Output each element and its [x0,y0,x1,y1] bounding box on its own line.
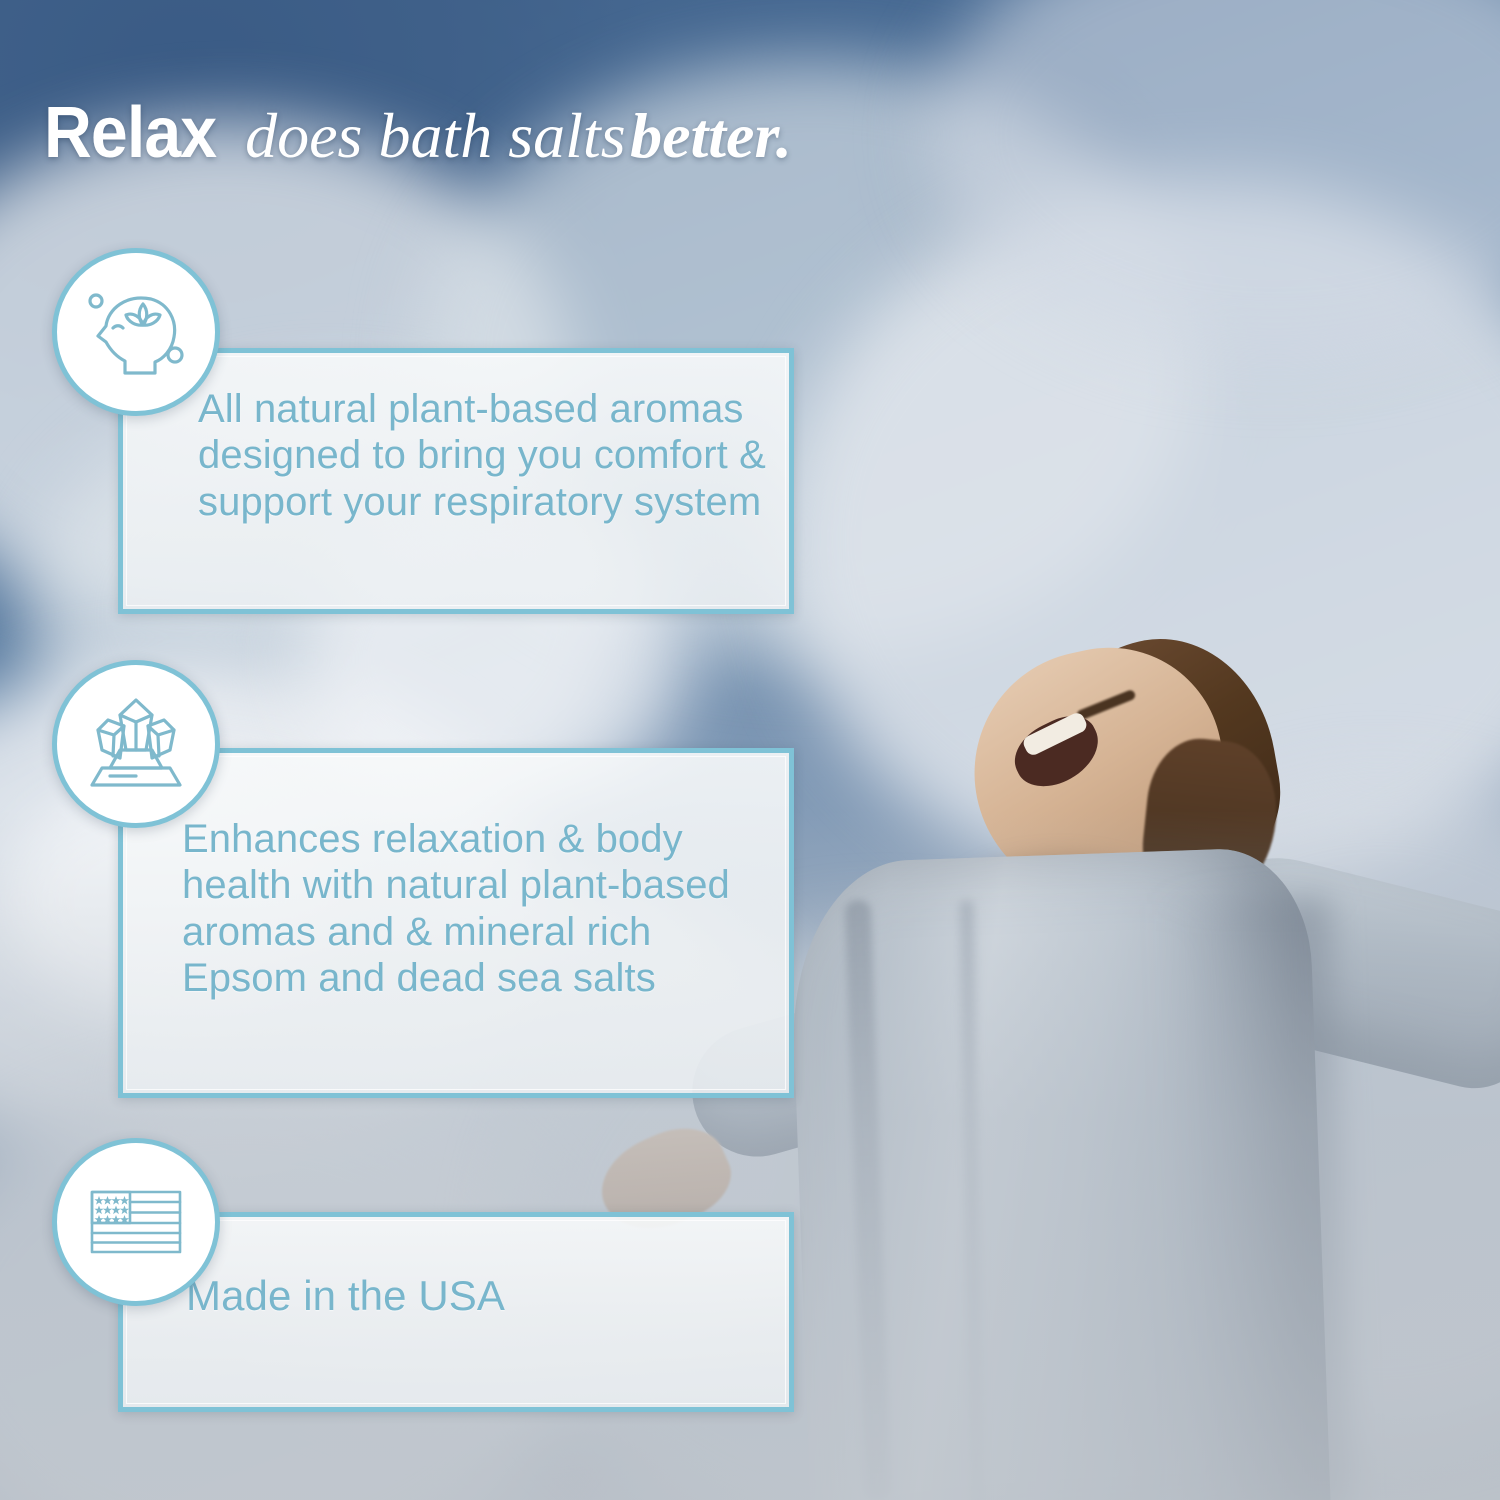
feature-text: Enhances relaxation & body health with n… [182,816,782,1002]
product-feature-banner: Relaxdoes bath salts better. All natural… [0,0,1500,1500]
feature-text: All natural plant-based aromas designed … [198,386,778,525]
headline-middle: does bath salts [245,100,625,171]
feature-text: Made in the USA [186,1272,766,1321]
head-lotus-mind-icon [52,248,220,416]
salt-crystals-icon [52,660,220,828]
usa-flag-icon [52,1138,220,1306]
page-title: Relaxdoes bath salts better. [44,92,792,174]
headline-emphasis: better. [630,100,792,171]
brand-name: Relax [44,92,216,174]
